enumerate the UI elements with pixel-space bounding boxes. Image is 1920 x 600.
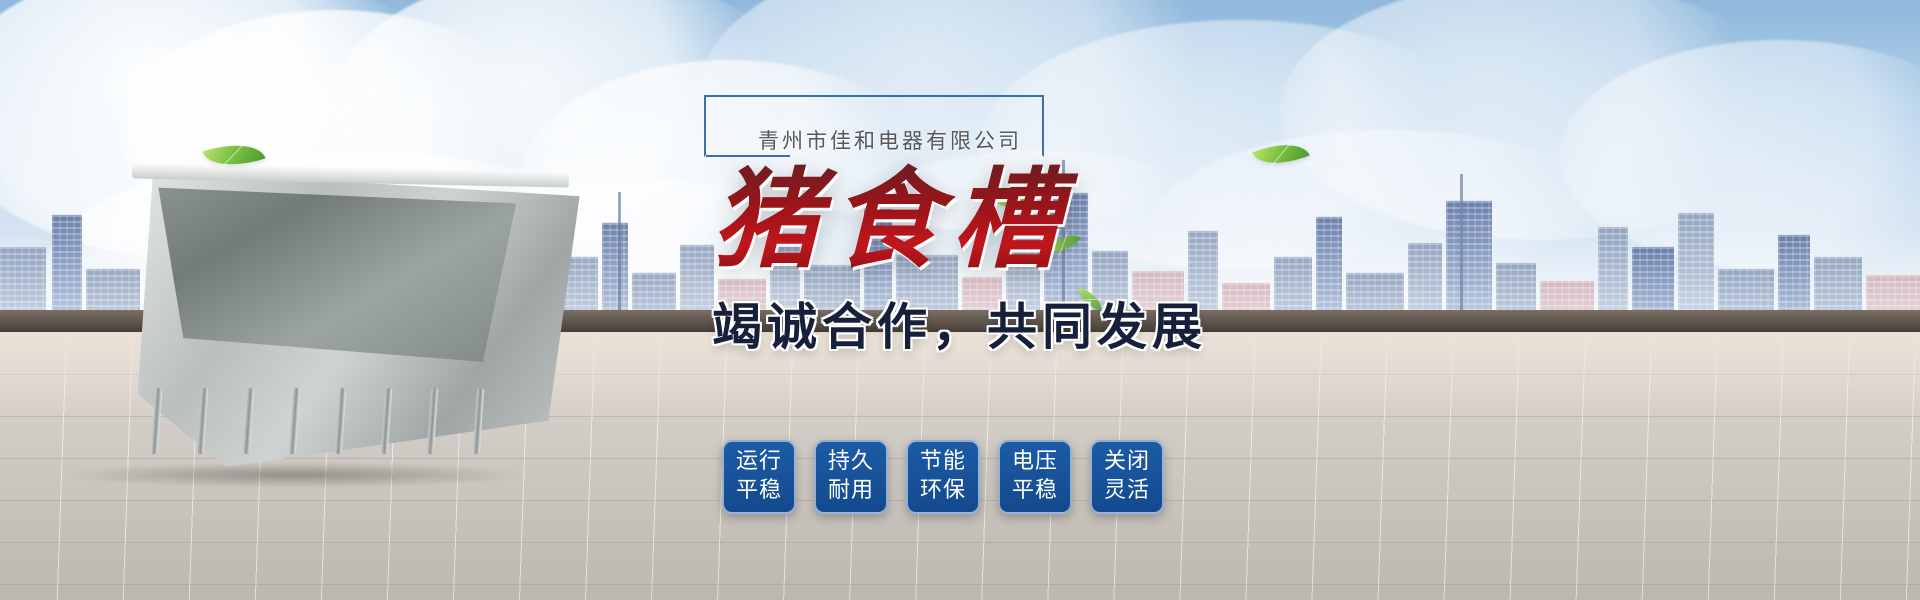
page-title: 猪食槽 <box>712 163 1420 277</box>
badge-line-2: 耐用 <box>828 477 874 506</box>
badge-line-1: 关闭 <box>1104 448 1150 477</box>
badge-line-2: 灵活 <box>1104 477 1150 506</box>
badge-line-2: 平稳 <box>736 477 782 506</box>
badge-line-2: 环保 <box>920 477 966 506</box>
badge-line-1: 节能 <box>920 448 966 477</box>
feature-badge-3[interactable]: 节能 环保 <box>906 440 980 514</box>
banner-subtitle: 竭诚合作，共同发展 <box>712 287 1420 359</box>
feature-badge-list: 运行 平稳 持久 耐用 节能 环保 电压 平稳 关闭 灵活 <box>722 440 1164 514</box>
trough-divider-bars <box>153 384 507 454</box>
banner-text-block: 青州市佳和电器有限公司 猪食槽 竭诚合作，共同发展 <box>700 95 1420 359</box>
feature-badge-2[interactable]: 持久 耐用 <box>814 440 888 514</box>
feature-badge-5[interactable]: 关闭 灵活 <box>1090 440 1164 514</box>
feature-badge-1[interactable]: 运行 平稳 <box>722 440 796 514</box>
badge-line-1: 持久 <box>828 448 874 477</box>
promo-banner: 青州市佳和电器有限公司 猪食槽 竭诚合作，共同发展 运行 平稳 持久 耐用 节能… <box>0 0 1920 600</box>
badge-line-2: 平稳 <box>1012 477 1058 506</box>
feature-badge-4[interactable]: 电压 平稳 <box>998 440 1072 514</box>
product-image-pig-feeder-trough <box>70 150 590 480</box>
badge-line-1: 运行 <box>736 448 782 477</box>
company-name: 青州市佳和电器有限公司 <box>758 125 1022 155</box>
badge-line-1: 电压 <box>1012 448 1058 477</box>
